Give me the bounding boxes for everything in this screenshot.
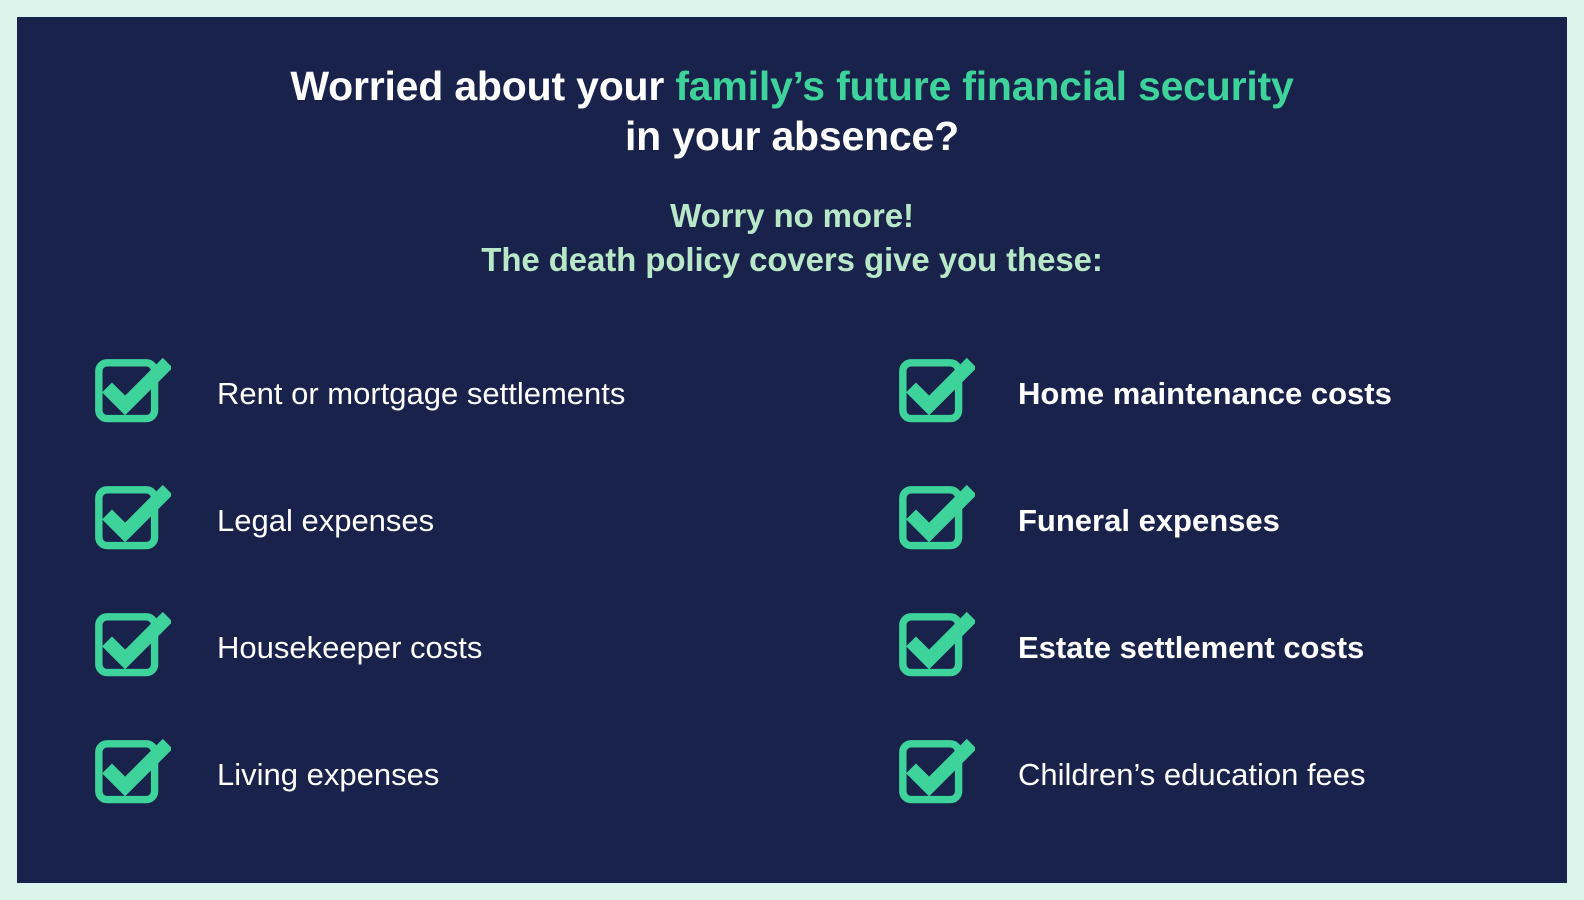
subtitle: Worry no more! The death policy covers g… xyxy=(17,161,1567,282)
checkbox-checked-icon xyxy=(893,353,975,435)
subtitle-line1: Worry no more! xyxy=(670,197,914,234)
benefits-column-left: Rent or mortgage settlements Legal expen… xyxy=(17,330,874,838)
list-item: Legal expenses xyxy=(17,457,874,584)
list-item-label: Rent or mortgage settlements xyxy=(217,376,625,412)
checkbox-checked-icon xyxy=(89,607,171,689)
list-item-label: Estate settlement costs xyxy=(1018,630,1364,666)
checkbox-checked-icon xyxy=(89,353,171,435)
checkbox-checked-icon xyxy=(893,607,975,689)
list-item-label: Home maintenance costs xyxy=(1018,376,1392,412)
headline-line2: in your absence? xyxy=(625,113,959,159)
list-item: Rent or mortgage settlements xyxy=(17,330,874,457)
headings-block: Worried about your family’s future finan… xyxy=(17,17,1567,282)
subtitle-line2: The death policy covers give you these: xyxy=(481,241,1102,278)
list-item: Estate settlement costs xyxy=(874,584,1567,711)
list-item: Living expenses xyxy=(17,711,874,838)
page-title: Worried about your family’s future finan… xyxy=(17,61,1567,161)
list-item-label: Legal expenses xyxy=(217,503,434,539)
checkbox-checked-icon xyxy=(893,734,975,816)
checkbox-checked-icon xyxy=(89,734,171,816)
list-item: Home maintenance costs xyxy=(874,330,1567,457)
headline-line1-accent: family’s future financial security xyxy=(675,63,1293,109)
list-item: Children’s education fees xyxy=(874,711,1567,838)
list-item: Funeral expenses xyxy=(874,457,1567,584)
list-item-label: Funeral expenses xyxy=(1018,503,1280,539)
benefits-column-right: Home maintenance costs Funeral expenses … xyxy=(874,330,1567,838)
list-item-label: Children’s education fees xyxy=(1018,757,1366,793)
list-item-label: Living expenses xyxy=(217,757,439,793)
headline-line1-plain: Worried about your xyxy=(290,63,675,109)
list-item: Housekeeper costs xyxy=(17,584,874,711)
list-item-label: Housekeeper costs xyxy=(217,630,482,666)
checkbox-checked-icon xyxy=(893,480,975,562)
benefits-checklist: Rent or mortgage settlements Legal expen… xyxy=(17,330,1567,838)
checkbox-checked-icon xyxy=(89,480,171,562)
promo-card: Worried about your family’s future finan… xyxy=(17,17,1567,883)
